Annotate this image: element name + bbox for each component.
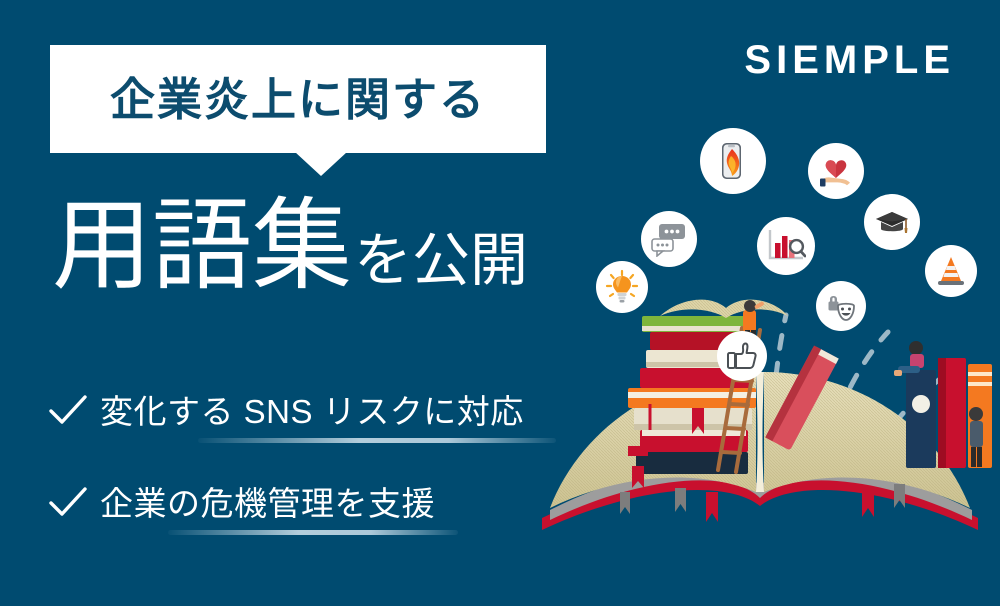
list-item-label: 変化する SNS リスクに対応 (100, 395, 524, 428)
feature-list: 変化する SNS リスクに対応 企業の危機管理を支援 (48, 383, 568, 567)
illustration-open-book (520, 0, 1000, 606)
eyebrow-label-text: 企業炎上に関する (110, 77, 486, 122)
bubble-graduation-cap[interactable] (864, 194, 920, 250)
traffic-cone-icon (934, 254, 968, 288)
headline-main-text: 用語集 (52, 196, 352, 296)
list-item: 企業の危機管理を支援 (48, 475, 568, 531)
chart-search-icon (766, 227, 806, 265)
list-item-underline (198, 438, 556, 443)
bubble-chat[interactable] (641, 211, 697, 267)
bubble-chart-search[interactable] (757, 217, 815, 275)
thumbs-up-icon (726, 340, 758, 372)
list-item: 変化する SNS リスクに対応 (48, 383, 568, 439)
check-icon (48, 394, 88, 428)
bubble-traffic-cone[interactable] (925, 245, 977, 297)
chat-bubbles-icon (650, 221, 688, 257)
list-item-underline (168, 530, 458, 535)
bubble-smartphone-fire[interactable] (700, 128, 766, 194)
bubble-lightbulb[interactable] (596, 261, 648, 313)
person-standing (969, 407, 983, 467)
person-sitting (894, 341, 924, 376)
page-title: 用語集 を公開 (52, 196, 528, 296)
promo-banner: SIEMPLE 企業炎上に関する 用語集 を公開 変化する SNS リスクに対応 (0, 0, 1000, 606)
eyebrow-label-notch (295, 152, 347, 176)
eyebrow-label-box: 企業炎上に関する (50, 45, 546, 153)
graduation-cap-icon (874, 204, 910, 240)
list-item-label: 企業の危機管理を支援 (100, 487, 435, 520)
lightbulb-icon (604, 269, 640, 305)
brand-logo[interactable]: SIEMPLE (744, 40, 955, 80)
bubble-lock-mask[interactable] (816, 281, 866, 331)
eyebrow-label: 企業炎上に関する (50, 45, 546, 153)
smartphone-fire-icon (712, 140, 754, 182)
heart-in-hand-icon (817, 152, 855, 190)
book-gutter (756, 372, 764, 492)
check-icon (48, 486, 88, 520)
headline-sub-text: を公開 (354, 232, 528, 290)
bubble-heart-in-hand[interactable] (808, 143, 864, 199)
lock-mask-icon (824, 289, 858, 323)
bubble-thumbs-up[interactable] (717, 331, 767, 381)
